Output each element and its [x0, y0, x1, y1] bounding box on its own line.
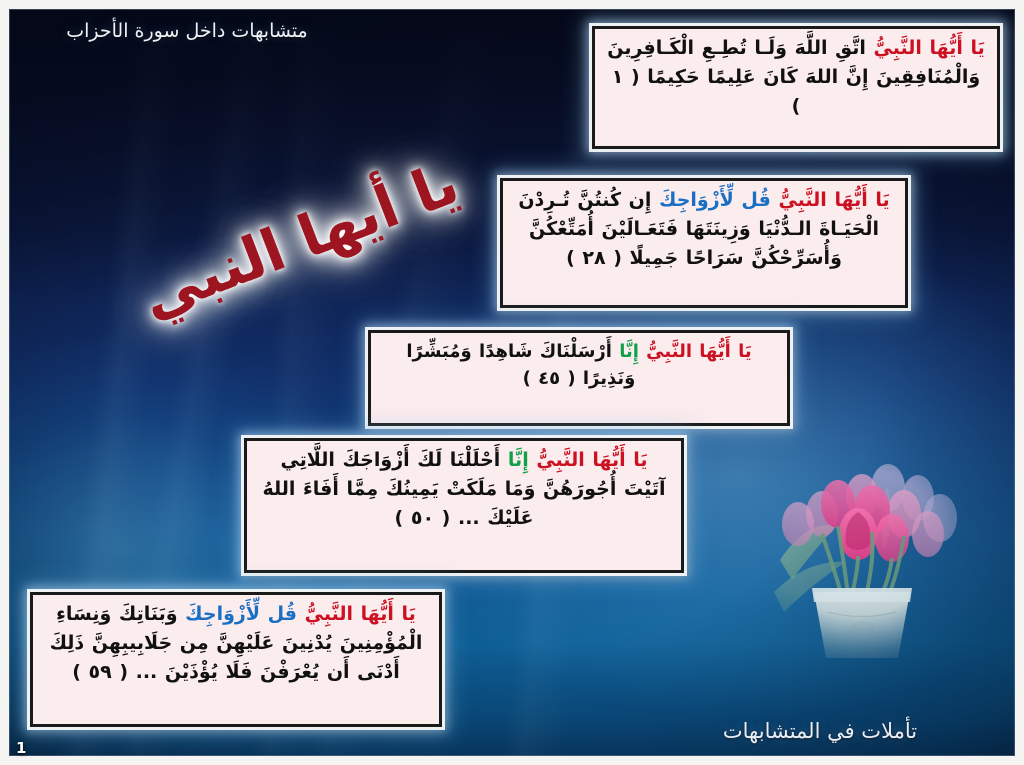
verse-segment-red: يَا أَيُّهَا النَّبِيُّ: [297, 603, 416, 625]
verse-segment-green: إِنَّا: [612, 341, 639, 362]
verse-box: يَا أَيُّهَا النَّبِيُّ قُل لِّأَزْوَاجِ…: [500, 178, 908, 308]
verse-text: يَا أَيُّهَا النَّبِيُّ إِنَّا أَحْلَلْن…: [258, 446, 670, 533]
presentation-slide: متشابهات داخل سورة الأحزاب يا أيها النبي…: [0, 0, 1024, 765]
verse-text: يَا أَيُّهَا النَّبِيُّ قُل لِّأَزْوَاجِ…: [44, 600, 428, 687]
page-number: 1: [16, 739, 26, 757]
verse-segment-blue: قُل لِّأَزْوَاجِكَ: [178, 603, 297, 625]
verse-box: يَا أَيُّهَا النَّبِيُّ إِنَّا أَرْسَلْن…: [368, 330, 790, 426]
verse-box: يَا أَيُّهَا النَّبِيُّ قُل لِّأَزْوَاجِ…: [30, 592, 442, 727]
verse-box: يَا أَيُّهَا النَّبِيُّ إِنَّا أَحْلَلْن…: [244, 438, 684, 573]
verse-box: يَا أَيُّهَا النَّبِيُّ اتَّقِ اللَّهَ و…: [592, 26, 1000, 149]
verse-segment-red: يَا أَيُّهَا النَّبِيُّ: [639, 341, 752, 362]
verse-segment-red: يَا أَيُّهَا النَّبِيُّ: [771, 189, 890, 211]
verse-text: يَا أَيُّهَا النَّبِيُّ قُل لِّأَزْوَاجِ…: [514, 186, 894, 273]
verse-segment-green: إِنَّا: [500, 449, 528, 471]
verse-segment-red: يَا أَيُّهَا النَّبِيُّ: [529, 449, 648, 471]
verse-text: يَا أَيُّهَا النَّبِيُّ اتَّقِ اللَّهَ و…: [606, 34, 986, 121]
footer-signature: تأملات في المتشابهات: [660, 719, 980, 743]
verse-segment-red: يَا أَيُّهَا النَّبِيُّ: [866, 37, 985, 59]
page-title: متشابهات داخل سورة الأحزاب: [22, 20, 352, 42]
verse-segment-blue: قُل لِّأَزْوَاجِكَ: [651, 189, 770, 211]
verse-segment-plain: أَرْسَلْنَاكَ شَاهِدًا وَمُبَشِّرًا وَنَ…: [406, 341, 635, 389]
tulips-decoration-icon: [762, 452, 1012, 667]
verse-text: يَا أَيُّهَا النَّبِيُّ إِنَّا أَرْسَلْن…: [382, 338, 776, 393]
